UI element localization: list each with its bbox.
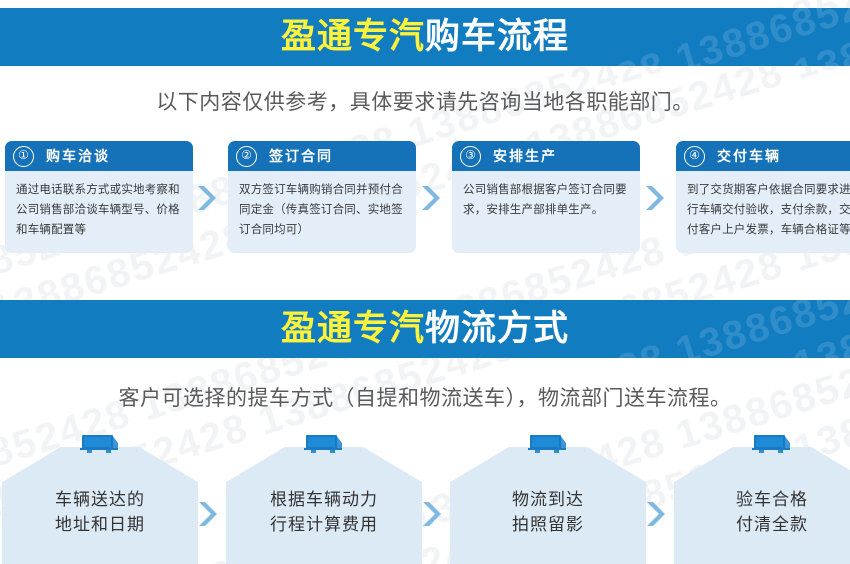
step-header-4: ④ 交付车辆	[676, 141, 850, 171]
logistics-card-line1: 车辆送达的	[2, 488, 198, 513]
logistics-card-line1: 物流到达	[450, 488, 646, 513]
logistics-card-3[interactable]: 物流到达 拍照留影	[450, 433, 646, 564]
purchase-steps-row: ① 购车洽谈 通过电话联系方式或实地考察和公司销售部洽谈车辆型号、价格和车辆配置…	[0, 141, 850, 256]
step-body: 通过电话联系方式或实地考察和公司销售部洽谈车辆型号、价格和车辆配置等	[5, 171, 193, 253]
purchase-flow-banner: 13886852428 13886852428 13886852428 1388…	[0, 8, 850, 66]
step-card-2[interactable]: ② 签订合同 双方签订车辆购销合同并预付合同定金（传真签订合同、实地签订合同均可…	[228, 141, 416, 253]
step-body: 双方签订车辆购销合同并预付合同定金（传真签订合同、实地签订合同均可）	[228, 171, 416, 253]
truck-icon	[78, 433, 122, 455]
banner-brand-text: 盈通专汽	[281, 17, 425, 57]
step-card-1[interactable]: ① 购车洽谈 通过电话联系方式或实地考察和公司销售部洽谈车辆型号、价格和车辆配置…	[5, 141, 193, 253]
logistics-card-text: 物流到达 拍照留影	[450, 488, 646, 537]
step-title: 交付车辆	[717, 146, 781, 166]
step-title: 购车洽谈	[46, 146, 110, 166]
logistics-card-text: 车辆送达的 地址和日期	[2, 488, 198, 537]
logistics-card-text: 根据车辆动力 行程计算费用	[226, 488, 422, 537]
step-number-badge: ①	[13, 146, 34, 167]
chevron-right-icon	[644, 499, 666, 529]
step-number-badge: ②	[236, 146, 257, 167]
logistics-card-4[interactable]: 验车合格 付清全款	[674, 433, 850, 564]
step-card-3[interactable]: ③ 安排生产 公司销售部根据客户签订合同要求，安排生产部排单生产。	[452, 141, 640, 253]
logistics-card-text: 验车合格 付清全款	[674, 488, 850, 537]
chevron-right-icon	[195, 183, 217, 213]
step-header-2: ② 签订合同	[228, 141, 416, 171]
chevron-right-icon	[196, 499, 218, 529]
step-number-badge: ④	[684, 146, 705, 167]
logistics-card-line1: 验车合格	[674, 488, 850, 513]
logistics-card-line2: 拍照留影	[450, 513, 646, 538]
logistics-card-line1: 根据车辆动力	[226, 488, 422, 513]
logistics-card-2[interactable]: 根据车辆动力 行程计算费用	[226, 433, 422, 564]
page-root: 13886852428 13886852428 13886852428 1388…	[0, 0, 850, 564]
truck-icon	[526, 433, 570, 455]
logistics-cards-row: 车辆送达的 地址和日期 根据车辆动力 行程计算费用	[0, 433, 850, 564]
step-card-4[interactable]: ④ 交付车辆 到了交货期客户依据合同要求进行车辆交付验收，支付余款，交付客户上户…	[676, 141, 850, 253]
purchase-flow-subtitle: 以下内容仅供参考，具体要求请先咨询当地各职能部门。	[0, 86, 850, 116]
step-title: 安排生产	[493, 146, 557, 166]
logistics-banner: 13886852428 13886852428 13886852428 1388…	[0, 300, 850, 358]
truck-icon	[302, 433, 346, 455]
logistics-subtitle: 客户可选择的提车方式（自提和物流送车），物流部门送车流程。	[0, 382, 850, 412]
chevron-right-icon	[420, 499, 442, 529]
logistics-card-1[interactable]: 车辆送达的 地址和日期	[2, 433, 198, 564]
banner-title-text: 物流方式	[425, 309, 569, 349]
banner-title-text: 购车流程	[425, 17, 569, 57]
step-body: 到了交货期客户依据合同要求进行车辆交付验收，支付余款，交付客户上户发票，车辆合格…	[676, 171, 850, 253]
chevron-right-icon	[419, 183, 441, 213]
banner-brand-text: 盈通专汽	[281, 309, 425, 349]
banner-title-logistics: 盈通专汽物流方式	[281, 312, 569, 347]
truck-icon	[750, 433, 794, 455]
step-header-3: ③ 安排生产	[452, 141, 640, 171]
logistics-card-line2: 行程计算费用	[226, 513, 422, 538]
logistics-card-line2: 地址和日期	[2, 513, 198, 538]
chevron-right-icon	[643, 183, 665, 213]
step-header-1: ① 购车洽谈	[5, 141, 193, 171]
banner-title-purchase: 盈通专汽购车流程	[281, 20, 569, 55]
logistics-card-line2: 付清全款	[674, 513, 850, 538]
step-title: 签订合同	[269, 146, 333, 166]
step-body: 公司销售部根据客户签订合同要求，安排生产部排单生产。	[452, 171, 640, 253]
step-number-badge: ③	[460, 146, 481, 167]
